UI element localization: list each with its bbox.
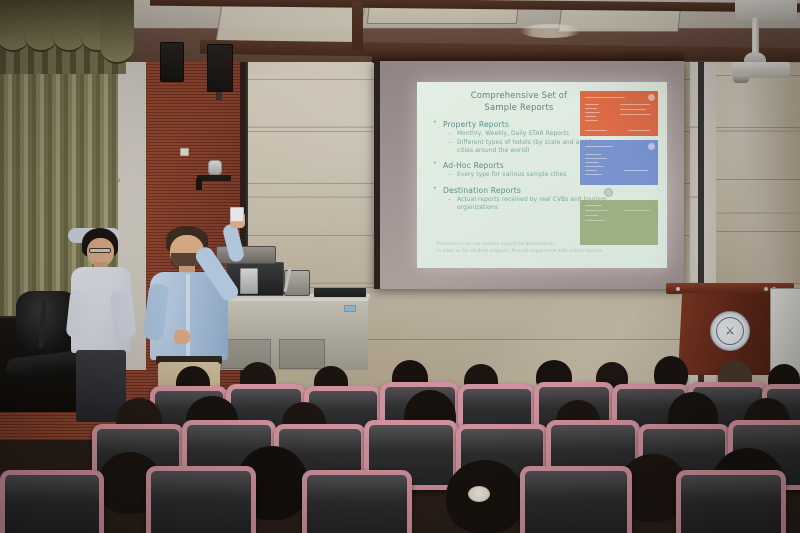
presenter-left-arm	[110, 289, 137, 339]
stone-seam	[716, 212, 800, 214]
auditorium-seat[interactable]	[0, 470, 104, 533]
adhoc-report-thumbnail	[580, 140, 658, 185]
projector-lens	[733, 74, 749, 83]
slide-title-line-1: Comprehensive Set of	[439, 89, 599, 101]
auditorium-seat[interactable]	[676, 470, 786, 533]
wall-speaker-right	[207, 44, 233, 92]
auditorium-seat[interactable]	[146, 466, 256, 533]
shirt-placket	[186, 274, 190, 358]
university-seal: ⚔	[710, 311, 750, 351]
projector-ceiling-plate	[735, 0, 797, 20]
lecture-hall-photo: Comprehensive Set of Sample Reports Prop…	[0, 0, 800, 533]
held-card	[230, 207, 244, 222]
ceiling-beam	[352, 2, 363, 50]
auditorium-seat[interactable]	[302, 470, 412, 533]
wall-camera	[208, 160, 222, 175]
slide-divider-icon	[604, 188, 613, 197]
speaker-bracket	[216, 92, 222, 100]
console-keyboard[interactable]	[314, 288, 366, 297]
thumbnail-logo-badge	[648, 143, 655, 150]
curtain-swag	[100, 0, 134, 64]
property-report-thumbnail	[580, 91, 658, 136]
ceiling-downlight	[520, 24, 580, 38]
thumbnail-logo-badge	[648, 94, 655, 101]
glasses-icon	[89, 248, 111, 253]
destination-report-thumbnail	[580, 200, 658, 245]
stone-seam	[716, 130, 800, 132]
hair-scrunchie	[468, 486, 490, 502]
slide-footer-line-2: in class or for student projects. Provid…	[437, 249, 627, 255]
wall-shelf-arm	[196, 178, 202, 190]
whiteboard	[770, 288, 800, 374]
wall-shelf	[197, 175, 231, 181]
slide-title: Comprehensive Set of Sample Reports	[439, 89, 599, 113]
console-access-panel[interactable]	[279, 339, 325, 369]
auditorium-seat[interactable]	[520, 466, 632, 533]
slide-title-line-2: Sample Reports	[439, 101, 599, 113]
presenter-center-lowered-hand	[174, 330, 190, 344]
curtain-valance	[0, 0, 126, 74]
bullet-destination-reports: Destination Reports	[443, 186, 607, 195]
presentation-slide: Comprehensive Set of Sample Reports Prop…	[417, 82, 667, 268]
screen-edge-shadow	[374, 61, 380, 289]
seal-emblem-icon: ⚔	[725, 326, 735, 337]
wall-speaker-left	[160, 42, 184, 82]
console-indicator	[344, 305, 356, 312]
presenter-center-raised-forearm	[222, 223, 246, 264]
wall-socket-plate[interactable]	[180, 148, 189, 156]
presenter-left	[68, 228, 138, 424]
